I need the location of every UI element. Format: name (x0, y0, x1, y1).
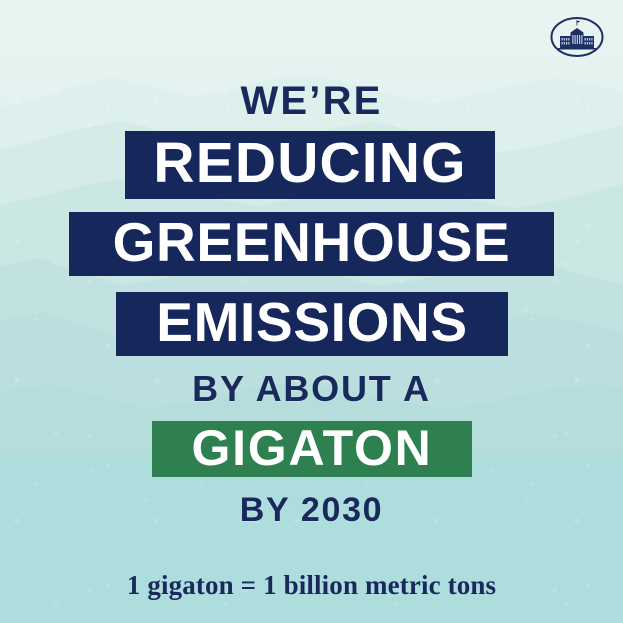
headline-line-by-2030: BY 2030 (0, 493, 623, 527)
headline-line-greenhouse: GREENHOUSE (69, 212, 554, 276)
headline-line-by-about-a: BY ABOUT A (0, 371, 623, 407)
headline-line-reducing: REDUCING (125, 131, 495, 199)
headline-line-were: WE’RE (0, 81, 623, 121)
climate-announcement-graphic: WE’RE REDUCING GREENHOUSE EMISSIONS BY A… (0, 0, 623, 623)
headline-line-emissions: EMISSIONS (116, 292, 508, 356)
footnote-text: 1 gigaton = 1 billion metric tons (0, 570, 623, 601)
headline-stack: WE’RE REDUCING GREENHOUSE EMISSIONS BY A… (0, 0, 623, 623)
headline-line-gigaton: GIGATON (152, 421, 472, 477)
